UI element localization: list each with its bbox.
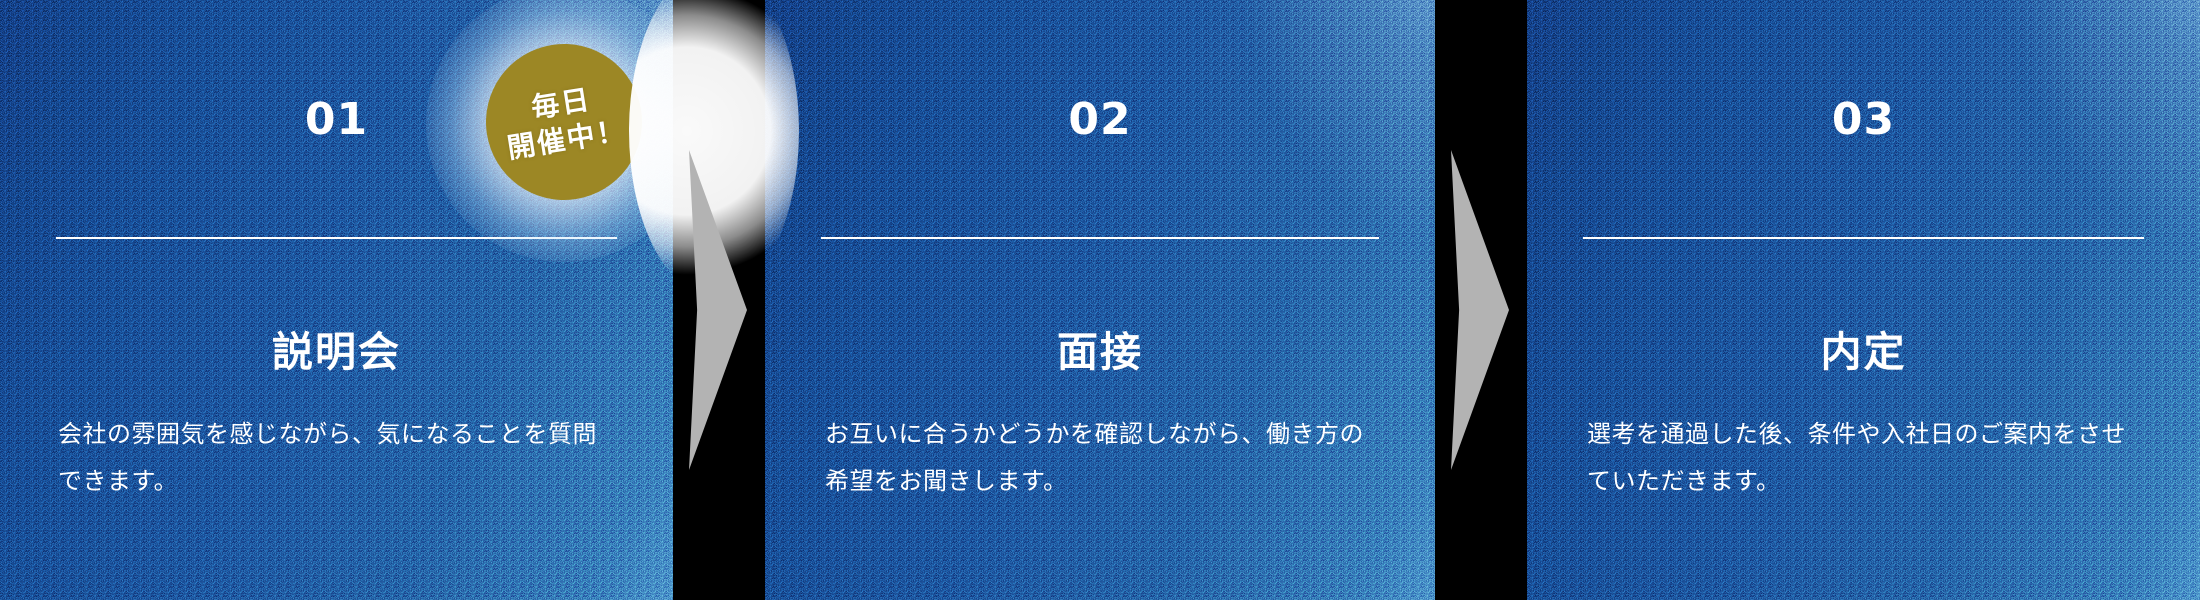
step-number-2: 02 (765, 98, 1435, 142)
step-separator-1 (673, 0, 765, 600)
step-title-3: 内定 (1527, 332, 2200, 373)
step-description-3: 選考を通過した後、条件や入社日のご案内をさせていただきます。 (1587, 412, 2144, 506)
badge-line-2: 開催中！ (505, 113, 629, 167)
step-separator-2 (1435, 0, 1527, 600)
chevron-right-icon (689, 150, 747, 470)
chevron-right-icon (1451, 150, 1509, 470)
step-panel-3: 03 内定 選考を通過した後、条件や入社日のご案内をさせていただきます。 (1527, 0, 2200, 600)
step-divider-1 (56, 237, 617, 239)
step-description-1: 会社の雰囲気を感じながら、気になることを質問できます。 (58, 412, 615, 506)
step-divider-2 (821, 237, 1379, 239)
step-description-2: お互いに合うかどうかを確認しながら、働き方の希望をお聞きします。 (825, 412, 1379, 506)
step-title-1: 説明会 (0, 332, 673, 373)
step-number-3: 03 (1527, 98, 2200, 142)
step-divider-3 (1583, 237, 2144, 239)
steps-flow-banner: 01 説明会 会社の雰囲気を感じながら、気になることを質問できます。 毎日 開催… (0, 0, 2200, 600)
step-panel-2: 02 面接 お互いに合うかどうかを確認しながら、働き方の希望をお聞きします。 (765, 0, 1435, 600)
step-title-2: 面接 (765, 332, 1435, 373)
